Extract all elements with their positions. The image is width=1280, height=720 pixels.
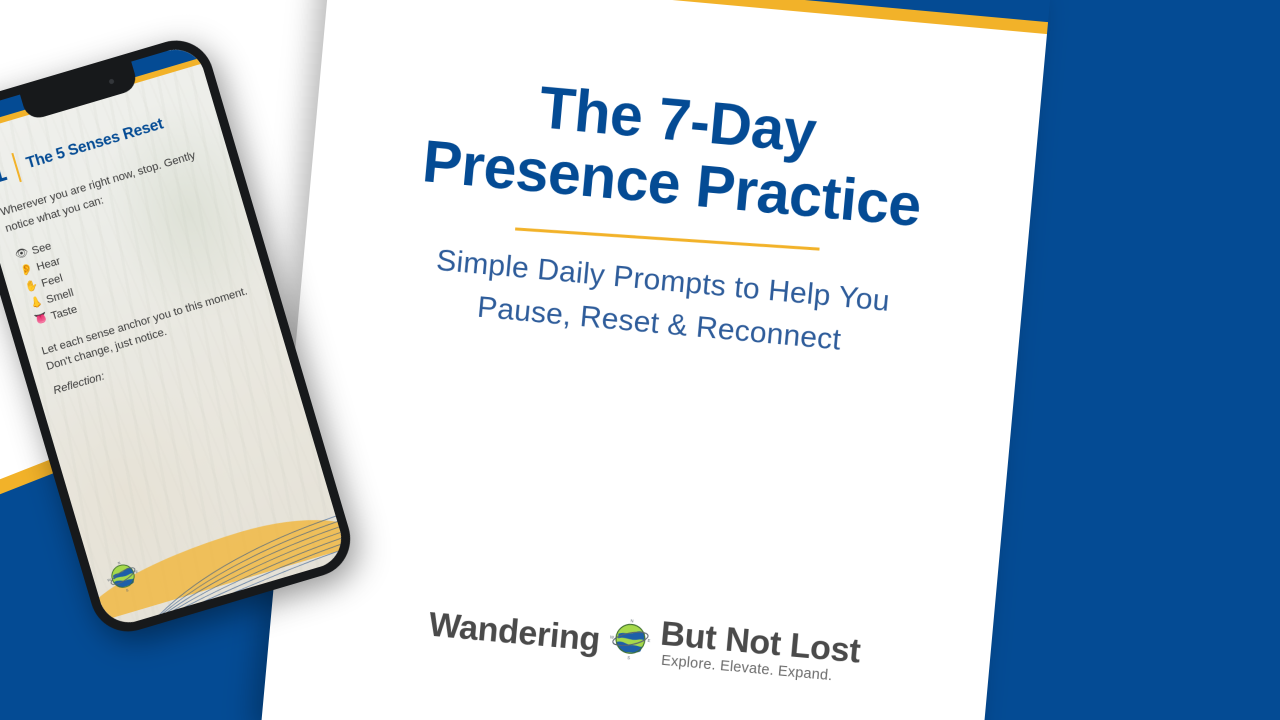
slide-canvas: The 7-Day Presence Practice Simple Daily… <box>0 0 1280 720</box>
svg-text:S: S <box>125 588 129 593</box>
svg-text:N: N <box>117 561 121 566</box>
flyer-title: The 7-Day Presence Practice <box>310 56 1039 248</box>
svg-text:E: E <box>647 638 650 643</box>
tongue-icon: 👅 <box>33 310 50 329</box>
front-camera-icon <box>108 78 114 84</box>
svg-text:E: E <box>135 570 139 575</box>
brand-lockup: Wandering N S E W But Not Lost Explore. … <box>270 581 992 698</box>
brand-word-wandering: Wandering <box>427 606 602 660</box>
day-number: 1 <box>0 156 10 190</box>
svg-text:W: W <box>609 635 613 640</box>
flyer-page: The 7-Day Presence Practice Simple Daily… <box>261 0 1051 720</box>
brand-right-stack: But Not Lost Explore. Elevate. Expand. <box>658 616 862 685</box>
gold-divider-rule <box>515 228 820 251</box>
svg-text:S: S <box>627 655 630 660</box>
globe-compass-icon: N S E W <box>606 615 654 663</box>
flyer-subtitle: Simple Daily Prompts to Help You Pause, … <box>299 228 1024 378</box>
flyer-heading-block: The 7-Day Presence Practice Simple Daily… <box>299 56 1039 378</box>
svg-text:N: N <box>630 619 633 624</box>
flyer-page-surface: The 7-Day Presence Practice Simple Daily… <box>261 0 1051 720</box>
day-divider <box>11 153 21 182</box>
